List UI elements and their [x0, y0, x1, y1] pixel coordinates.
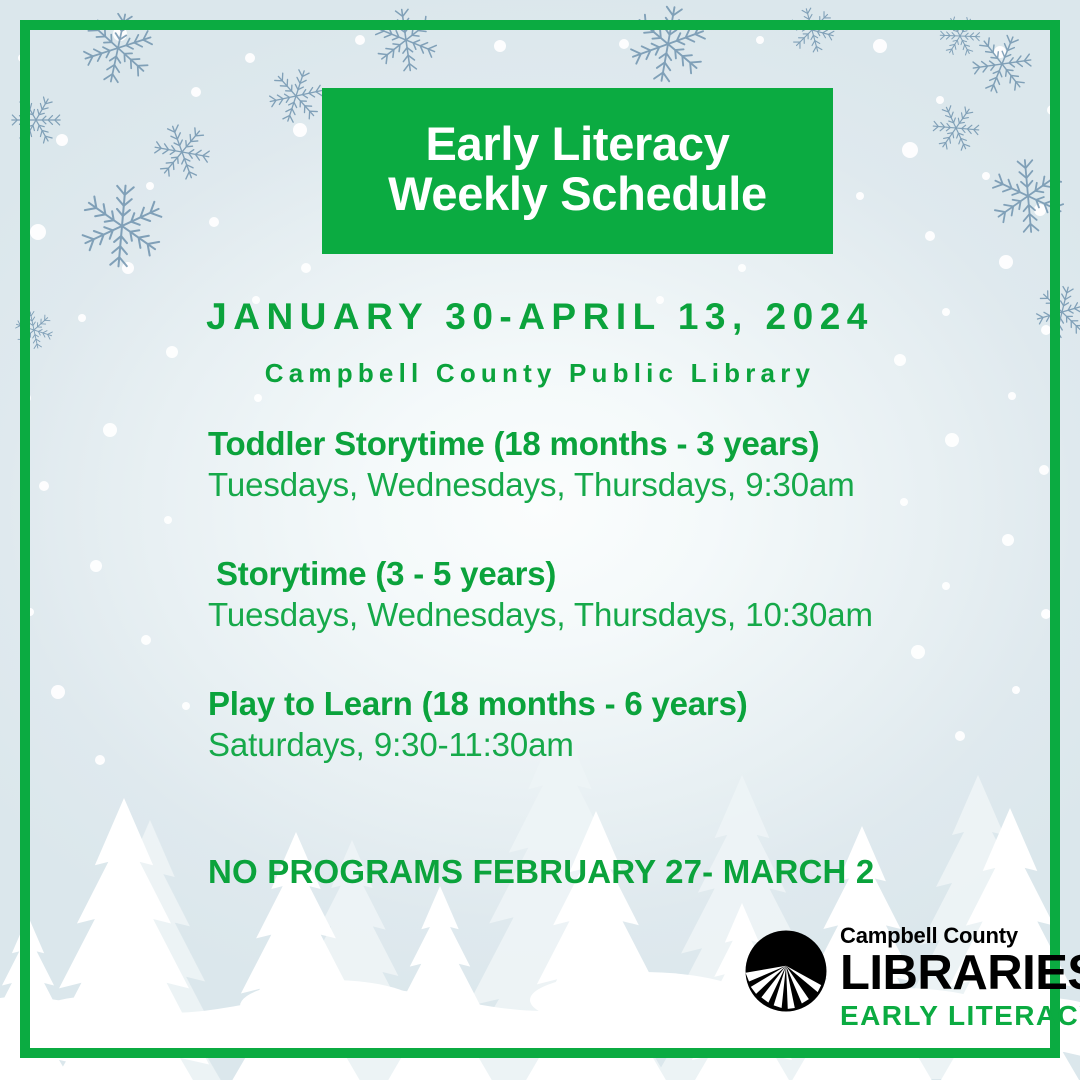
logo-sub-line: EARLY LITERACY	[840, 1002, 1080, 1030]
program-schedule: Tuesdays, Wednesdays, Thursdays, 9:30am	[208, 464, 1038, 506]
program-schedule: Saturdays, 9:30-11:30am	[208, 724, 1038, 766]
program-item: Storytime (3 - 5 years) Tuesdays, Wednes…	[208, 554, 1038, 636]
program-title: Toddler Storytime (18 months - 3 years)	[208, 424, 1038, 464]
logo-top-line: Campbell County	[840, 925, 1080, 947]
program-list: Toddler Storytime (18 months - 3 years) …	[208, 424, 1038, 765]
title-banner: Early Literacy Weekly Schedule	[322, 88, 833, 254]
poster-content: Early Literacy Weekly Schedule JANUARY 3…	[0, 0, 1080, 1080]
program-title: Play to Learn (18 months - 6 years)	[208, 684, 1038, 724]
library-logo: Campbell County LIBRARIES EARLY LITERACY	[742, 921, 1042, 1039]
organization-name: Campbell County Public Library	[0, 358, 1080, 389]
title-line-2: Weekly Schedule	[388, 169, 767, 219]
program-item: Play to Learn (18 months - 6 years) Satu…	[208, 684, 1038, 766]
program-schedule: Tuesdays, Wednesdays, Thursdays, 10:30am	[208, 594, 1038, 636]
sunburst-book-icon	[742, 927, 830, 1015]
title-line-1: Early Literacy	[425, 119, 729, 169]
program-title: Storytime (3 - 5 years)	[208, 554, 1038, 594]
no-programs-notice: NO PROGRAMS FEBRUARY 27- MARCH 2	[208, 853, 874, 891]
logo-wordmark: Campbell County LIBRARIES EARLY LITERACY	[840, 921, 1080, 1030]
date-range: JANUARY 30-APRIL 13, 2024	[0, 296, 1080, 338]
logo-main-line: LIBRARIES	[840, 949, 1080, 998]
poster-canvas: Early Literacy Weekly Schedule JANUARY 3…	[0, 0, 1080, 1080]
program-item: Toddler Storytime (18 months - 3 years) …	[208, 424, 1038, 506]
